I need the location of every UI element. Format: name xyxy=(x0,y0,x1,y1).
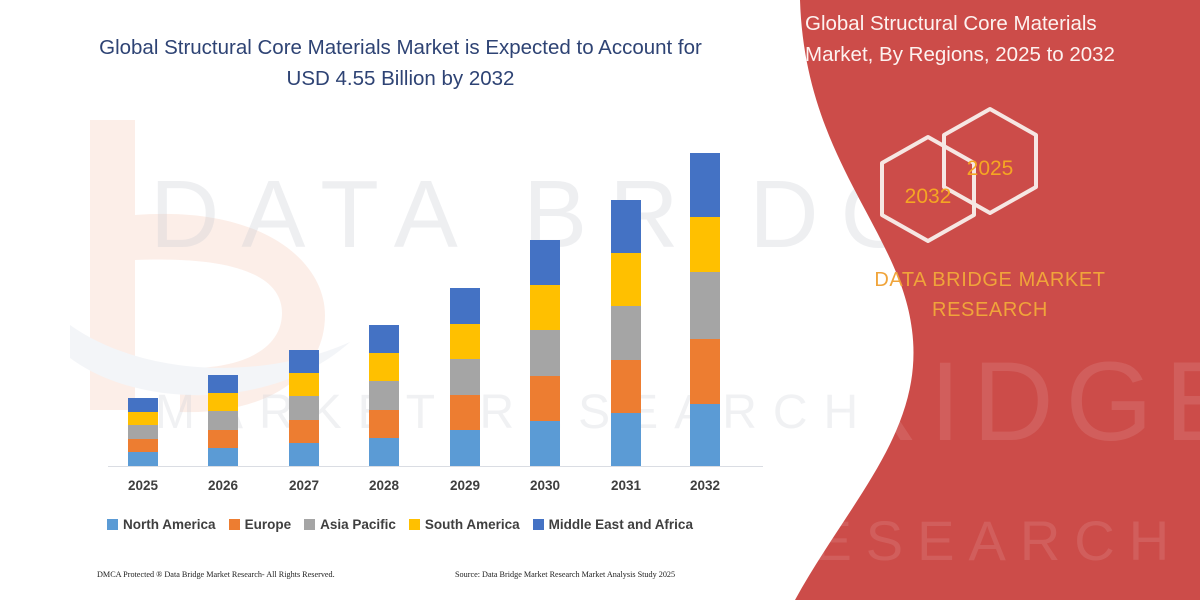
x-label-2030: 2030 xyxy=(515,478,575,493)
legend-label: Middle East and Africa xyxy=(549,517,693,532)
right-panel-content: Global Structural Core Materials Market,… xyxy=(780,0,1200,600)
legend-label: Asia Pacific xyxy=(320,517,396,532)
bar-segment xyxy=(530,240,560,285)
stacked-bars xyxy=(0,0,800,600)
hexagon-label-2025: 2025 xyxy=(940,157,1040,181)
x-label-2032: 2032 xyxy=(675,478,735,493)
bar-segment xyxy=(128,398,158,412)
bar-2026 xyxy=(208,375,238,466)
hexagon-group: 2025 2032 xyxy=(840,105,1140,245)
bar-segment xyxy=(450,324,480,360)
footer-copyright: DMCA Protected ® Data Bridge Market Rese… xyxy=(97,570,335,579)
bar-2029 xyxy=(450,288,480,466)
bar-segment xyxy=(611,253,641,306)
bar-segment xyxy=(690,339,720,404)
bar-segment xyxy=(450,359,480,395)
bar-segment xyxy=(611,200,641,253)
legend-item-europe[interactable]: Europe xyxy=(229,517,292,532)
legend-item-north-america[interactable]: North America xyxy=(107,517,216,532)
legend-item-asia-pacific[interactable]: Asia Pacific xyxy=(304,517,396,532)
panel-title: Global Structural Core Materials Market,… xyxy=(805,8,1160,70)
bar-segment xyxy=(530,421,560,466)
bar-segment xyxy=(208,393,238,411)
x-axis-labels: 20252026202720282029203020312032 xyxy=(0,478,800,500)
bar-segment xyxy=(690,272,720,339)
bar-segment xyxy=(450,430,480,466)
legend-swatch-icon xyxy=(107,519,118,530)
bar-segment xyxy=(208,375,238,393)
panel-brand-line2: RESEARCH xyxy=(800,295,1180,325)
bar-segment xyxy=(128,452,158,466)
bar-segment xyxy=(289,350,319,373)
bar-segment xyxy=(369,438,399,466)
chart-area: Global Structural Core Materials Market … xyxy=(0,0,800,600)
bar-segment xyxy=(208,448,238,466)
bar-segment xyxy=(128,412,158,426)
footer-source: Source: Data Bridge Market Research Mark… xyxy=(455,570,675,579)
bar-segment xyxy=(289,373,319,396)
bar-segment xyxy=(450,395,480,431)
legend-swatch-icon xyxy=(229,519,240,530)
legend-label: Europe xyxy=(245,517,292,532)
bar-segment xyxy=(128,425,158,439)
bar-2025 xyxy=(128,398,158,466)
bar-segment xyxy=(289,420,319,443)
legend-swatch-icon xyxy=(533,519,544,530)
bar-segment xyxy=(128,439,158,453)
bar-segment xyxy=(208,411,238,429)
x-label-2027: 2027 xyxy=(274,478,334,493)
x-label-2029: 2029 xyxy=(435,478,495,493)
bar-segment xyxy=(208,430,238,448)
bar-segment xyxy=(530,330,560,375)
bar-segment xyxy=(690,404,720,466)
legend-swatch-icon xyxy=(409,519,420,530)
bar-2028 xyxy=(369,325,399,466)
chart-legend: North AmericaEuropeAsia PacificSouth Ame… xyxy=(0,513,800,535)
bar-2030 xyxy=(530,240,560,466)
bar-segment xyxy=(530,285,560,330)
bar-2027 xyxy=(289,350,319,466)
bar-segment xyxy=(369,325,399,353)
x-label-2028: 2028 xyxy=(354,478,414,493)
bar-segment xyxy=(369,410,399,438)
infographic-root: DATA BRIDGE MARKET RESEARCH BRIDGE RESEA… xyxy=(0,0,1200,600)
bar-segment xyxy=(611,306,641,359)
legend-item-south-america[interactable]: South America xyxy=(409,517,520,532)
bar-segment xyxy=(611,360,641,413)
bar-2031 xyxy=(611,200,641,466)
panel-brand-line1: DATA BRIDGE MARKET xyxy=(800,265,1180,295)
x-label-2026: 2026 xyxy=(193,478,253,493)
bar-segment xyxy=(530,376,560,421)
bar-segment xyxy=(450,288,480,324)
bar-segment xyxy=(611,413,641,466)
footer: DMCA Protected ® Data Bridge Market Rese… xyxy=(0,568,800,588)
bar-segment xyxy=(690,217,720,272)
legend-item-middle-east-and-africa[interactable]: Middle East and Africa xyxy=(533,517,693,532)
hexagon-label-2032: 2032 xyxy=(878,185,978,209)
legend-label: South America xyxy=(425,517,520,532)
x-label-2025: 2025 xyxy=(113,478,173,493)
x-label-2031: 2031 xyxy=(596,478,656,493)
legend-swatch-icon xyxy=(304,519,315,530)
bar-segment xyxy=(289,396,319,419)
bar-2032 xyxy=(690,153,720,466)
bar-segment xyxy=(690,153,720,217)
bar-segment xyxy=(289,443,319,466)
panel-brand: DATA BRIDGE MARKET RESEARCH xyxy=(800,265,1180,325)
bar-segment xyxy=(369,381,399,409)
legend-label: North America xyxy=(123,517,216,532)
bar-segment xyxy=(369,353,399,381)
